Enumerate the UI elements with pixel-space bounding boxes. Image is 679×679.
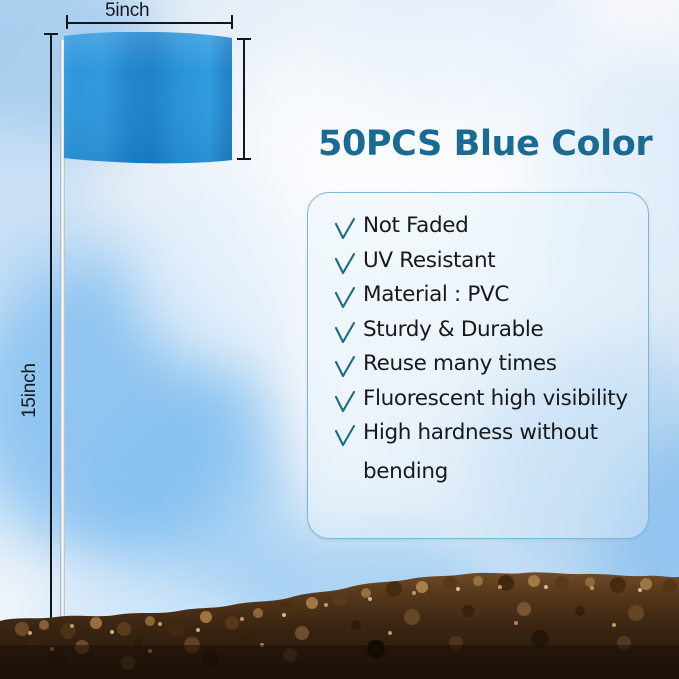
feature-label: Sturdy & Durable: [363, 319, 543, 341]
dimension-label-width: 5inch: [105, 0, 149, 22]
check-mark-icon: [334, 287, 356, 310]
list-item: High hardness without: [334, 422, 632, 448]
dimension-label-stake-length: 15inch: [19, 363, 41, 418]
product-infographic: 5inch 4inch 15inch: [0, 0, 679, 679]
list-item: Not Faded: [334, 215, 632, 241]
list-item: UV Resistant: [334, 250, 632, 276]
feature-label: High hardness without: [363, 422, 598, 444]
soil-mound: [0, 559, 679, 679]
page-title: 50PCS Blue Color: [318, 124, 652, 164]
feature-label-continuation: bending: [363, 459, 632, 484]
check-mark-icon: [334, 322, 356, 345]
check-mark-icon: [334, 356, 356, 379]
check-mark-icon: [334, 391, 356, 414]
check-mark-icon: [334, 253, 356, 276]
list-item-continuation: bending: [334, 459, 632, 484]
list-item: Sturdy & Durable: [334, 319, 632, 345]
feature-label: Material : PVC: [363, 284, 509, 306]
feature-list: Not Faded UV Resistant Material : PVC: [334, 215, 632, 484]
blue-flag: [63, 32, 233, 166]
feature-label: Reuse many times: [363, 353, 557, 375]
feature-label: UV Resistant: [363, 250, 495, 272]
list-item: Material : PVC: [334, 284, 632, 310]
feature-label: Not Faded: [363, 215, 468, 237]
list-item: Fluorescent high visibility: [334, 388, 632, 414]
check-mark-icon: [334, 425, 356, 448]
feature-label: Fluorescent high visibility: [363, 388, 628, 410]
list-item: Reuse many times: [334, 353, 632, 379]
check-mark-icon: [334, 218, 356, 241]
feature-list-box: Not Faded UV Resistant Material : PVC: [307, 192, 649, 539]
